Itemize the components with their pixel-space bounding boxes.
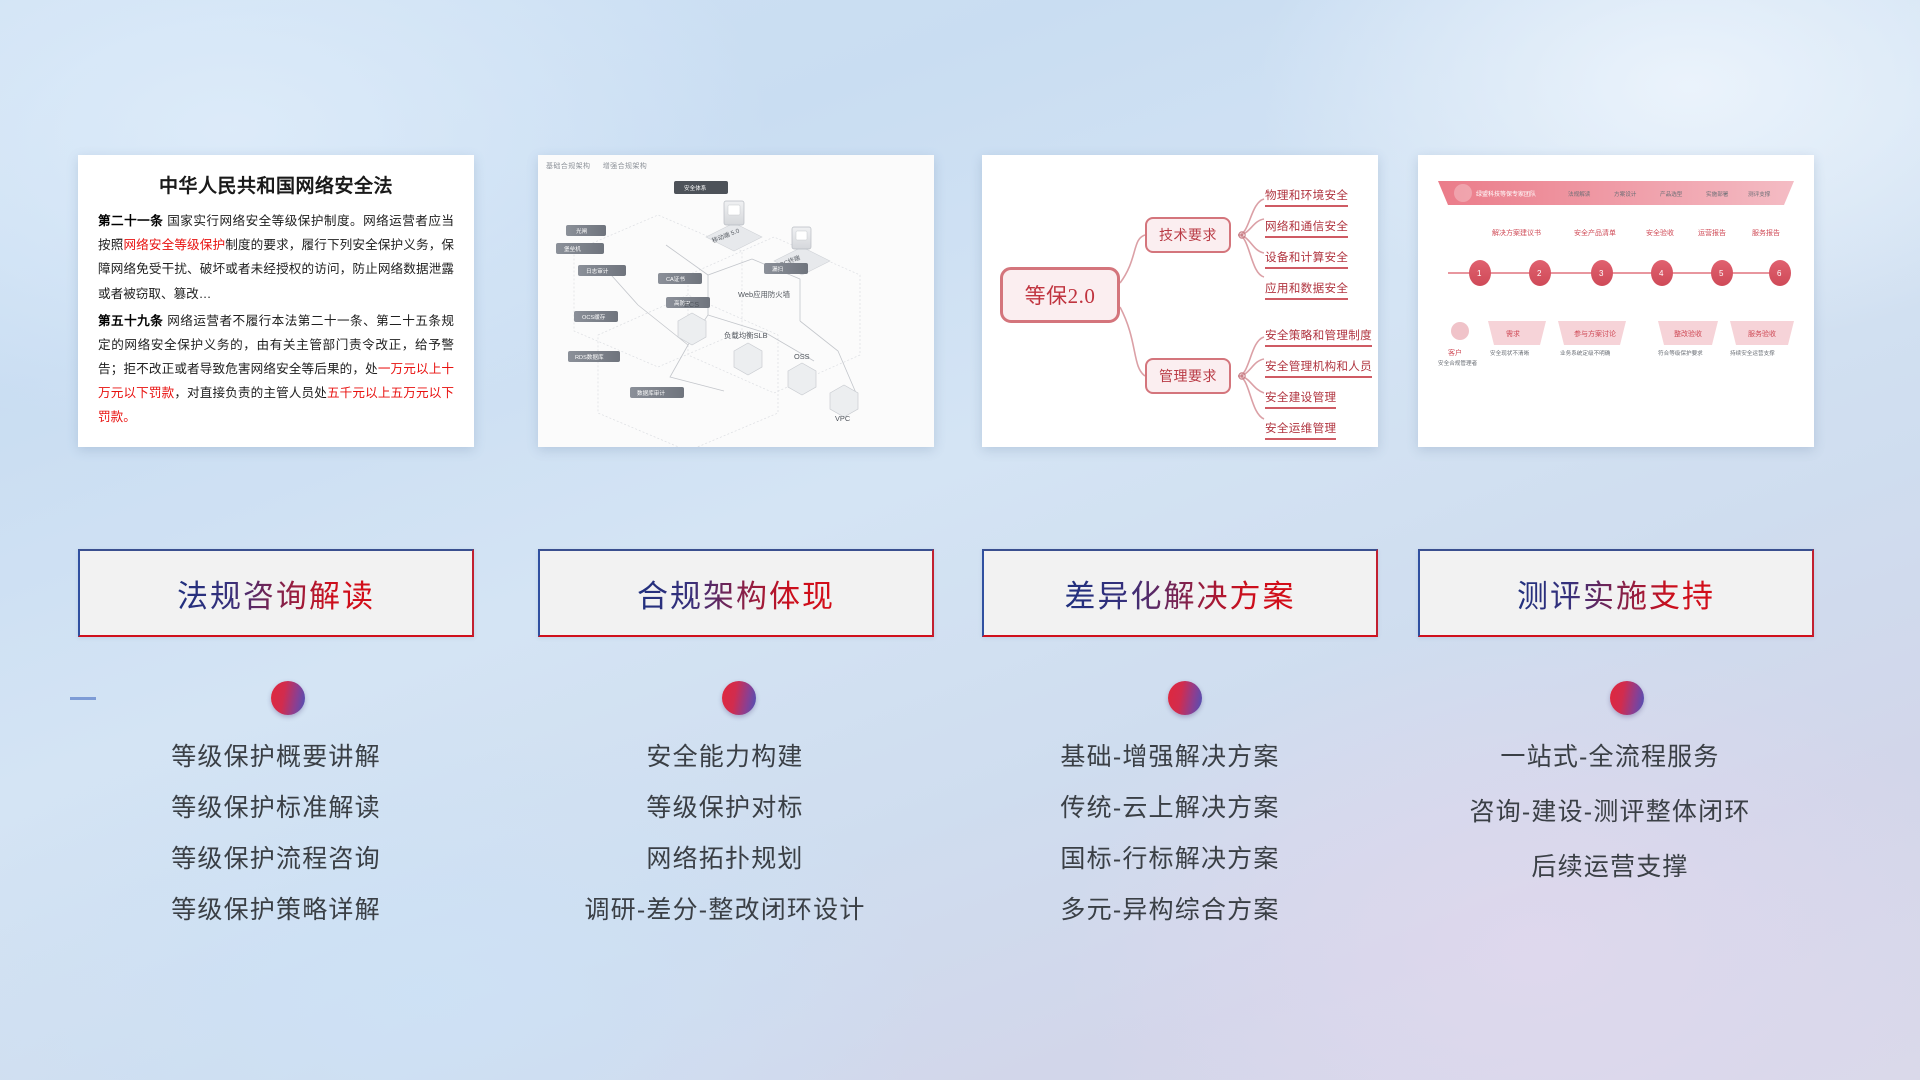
svg-text:安全验收: 安全验收	[1646, 228, 1674, 237]
detail-column-compliance-architecture: 安全能力构建 等级保护对标 网络拓扑规划 调研-差分-整改闭环设计	[495, 745, 955, 949]
svg-text:安全现状不清晰: 安全现状不清晰	[1490, 349, 1530, 357]
svg-text:安全专家: 安全专家	[1445, 231, 1469, 239]
svg-text:需求: 需求	[1506, 329, 1520, 338]
mindmap-leaf: 应用和数据安全	[1265, 280, 1348, 300]
timeline-dot-1[interactable]	[271, 681, 305, 715]
preview-card-mindmap[interactable]: 等保2.0 技术要求 管理要求 物理和环境安全 网络和通信安全 设备和计算安全 …	[982, 155, 1378, 447]
list-item: 等级保护标准解读	[46, 796, 506, 821]
list-item: 等级保护流程咨询	[46, 847, 506, 872]
svg-text:5: 5	[1719, 269, 1724, 278]
architecture-title-tag: 安全体系	[684, 184, 707, 192]
section-header-label: 测评实施支持	[1517, 571, 1715, 616]
mindmap-leaf: 物理和环境安全	[1265, 187, 1348, 207]
svg-text:ECS: ECS	[684, 300, 699, 309]
svg-text:解决方案建议书: 解决方案建议书	[1492, 228, 1541, 237]
list-item: 传统-云上解决方案	[940, 796, 1400, 821]
mindmap-leaf: 安全建设管理	[1265, 389, 1336, 409]
svg-text:安全合规管理者: 安全合规管理者	[1438, 359, 1478, 367]
list-item: 等级保护策略详解	[46, 898, 506, 923]
detail-column-differentiated-solution: 基础-增强解决方案 传统-云上解决方案 国标-行标解决方案 多元-异构综合方案	[940, 745, 1400, 949]
svg-text:方案设计: 方案设计	[1614, 190, 1637, 198]
svg-text:CA证书: CA证书	[666, 275, 685, 283]
svg-text:RDS数据库: RDS数据库	[575, 353, 604, 361]
detail-column-regulation-consulting: 等级保护概要讲解 等级保护标准解读 等级保护流程咨询 等级保护策略详解	[46, 745, 506, 949]
roadmap-svg: NSFOCUS 安全专家 绿盟科技等保专家团队 法规解读 方案设计 产品选型 实…	[1418, 155, 1814, 447]
article-21-highlight: 网络安全等级保护	[123, 238, 225, 252]
roadmap-diagram: NSFOCUS 安全专家 绿盟科技等保专家团队 法规解读 方案设计 产品选型 实…	[1418, 155, 1814, 447]
list-item: 后续运营支撑	[1380, 855, 1840, 880]
svg-text:符合等级保护要求: 符合等级保护要求	[1658, 349, 1703, 357]
svg-text:OSS: OSS	[794, 352, 810, 361]
svg-text:堡垒机: 堡垒机	[564, 245, 581, 253]
list-item: 调研-差分-整改闭环设计	[495, 898, 955, 923]
svg-text:日志审计: 日志审计	[586, 267, 609, 275]
svg-text:VPC: VPC	[835, 414, 851, 423]
preview-card-architecture[interactable]: 基础合规架构 增强合规架构	[538, 155, 934, 447]
list-item: 国标-行标解决方案	[940, 847, 1400, 872]
list-item: 一站式-全流程服务	[1380, 745, 1840, 770]
svg-text:OCS缓存: OCS缓存	[582, 313, 606, 321]
svg-text:服务验收: 服务验收	[1748, 329, 1776, 338]
mindmap-diagram: 等保2.0 技术要求 管理要求 物理和环境安全 网络和通信安全 设备和计算安全 …	[982, 155, 1378, 447]
law-article-21: 第二十一条 国家实行网络安全等级保护制度。网络运营者应当按照网络安全等级保护制度…	[98, 209, 454, 306]
mindmap-root-node: 等保2.0	[1000, 267, 1120, 323]
timeline	[70, 697, 1850, 700]
timeline-dot-2[interactable]	[722, 681, 756, 715]
mindmap-branch-technical: 技术要求	[1145, 217, 1231, 253]
svg-text:持续安全运营支撑: 持续安全运营支撑	[1730, 349, 1775, 357]
svg-text:2: 2	[1537, 269, 1542, 278]
list-item: 基础-增强解决方案	[940, 745, 1400, 770]
law-document: 中华人民共和国网络安全法 第二十一条 国家实行网络安全等级保护制度。网络运营者应…	[78, 155, 474, 438]
section-header-compliance-architecture[interactable]: 合规架构体现	[538, 549, 934, 637]
preview-card-roadmap[interactable]: NSFOCUS 安全专家 绿盟科技等保专家团队 法规解读 方案设计 产品选型 实…	[1418, 155, 1814, 447]
mindmap-branch-management: 管理要求	[1145, 358, 1231, 394]
svg-text:业务系统定级不明确: 业务系统定级不明确	[1560, 349, 1611, 357]
svg-text:绿盟科技等保专家团队: 绿盟科技等保专家团队	[1476, 190, 1536, 198]
mindmap-leaf: 安全策略和管理制度	[1265, 327, 1372, 347]
architecture-diagram: 基础合规架构 增强合规架构	[538, 155, 934, 447]
svg-text:服务报告: 服务报告	[1752, 228, 1780, 237]
preview-card-law[interactable]: 中华人民共和国网络安全法 第二十一条 国家实行网络安全等级保护制度。网络运营者应…	[78, 155, 474, 447]
svg-text:实施部署: 实施部署	[1706, 190, 1729, 198]
mindmap-leaf: 网络和通信安全	[1265, 218, 1348, 238]
section-header-evaluation-support[interactable]: 测评实施支持	[1418, 549, 1814, 637]
section-header-differentiated-solution[interactable]: 差异化解决方案	[982, 549, 1378, 637]
svg-text:数据库审计: 数据库审计	[637, 389, 665, 397]
svg-text:运营报告: 运营报告	[1698, 228, 1726, 237]
list-item: 咨询-建设-测评整体闭环	[1380, 800, 1840, 825]
law-title: 中华人民共和国网络安全法	[98, 171, 454, 198]
law-article-59: 第五十九条 网络运营者不履行本法第二十一条、第二十五条规定的网络安全保护义务的，…	[98, 309, 454, 430]
list-item: 多元-异构综合方案	[940, 898, 1400, 923]
list-item: 网络拓扑规划	[495, 847, 955, 872]
article-21-label: 第二十一条	[98, 214, 163, 228]
svg-text:参与方案讨论: 参与方案讨论	[1574, 329, 1616, 338]
svg-text:测评支撑: 测评支撑	[1748, 190, 1771, 198]
detail-list-row: 等级保护概要讲解 等级保护标准解读 等级保护流程咨询 等级保护策略详解 安全能力…	[0, 745, 1920, 945]
preview-card-row: 中华人民共和国网络安全法 第二十一条 国家实行网络安全等级保护制度。网络运营者应…	[0, 155, 1920, 450]
svg-text:3: 3	[1599, 269, 1604, 278]
article-59-label: 第五十九条	[98, 314, 163, 328]
timeline-dot-4[interactable]	[1610, 681, 1644, 715]
svg-text:安全产品清单: 安全产品清单	[1574, 228, 1616, 237]
svg-text:产品选型: 产品选型	[1660, 190, 1683, 198]
section-header-label: 差异化解决方案	[1065, 571, 1296, 616]
mindmap-leaf: 安全管理机构和人员	[1265, 358, 1372, 378]
mindmap-leaf: 安全运维管理	[1265, 420, 1336, 440]
svg-text:整改验收: 整改验收	[1674, 329, 1702, 338]
timeline-dot-3[interactable]	[1168, 681, 1202, 715]
svg-text:法规解读: 法规解读	[1568, 190, 1591, 198]
mindmap-leaf: 设备和计算安全	[1265, 249, 1348, 269]
detail-column-evaluation-support: 一站式-全流程服务 咨询-建设-测评整体闭环 后续运营支撑	[1380, 745, 1840, 910]
roadmap-brand: NSFOCUS	[1444, 219, 1488, 229]
article-59-text-b: ，对直接负责的主管人员处	[174, 386, 327, 400]
svg-text:漏扫: 漏扫	[772, 265, 784, 273]
section-header-label: 法规咨询解读	[177, 571, 375, 616]
svg-text:光闸: 光闸	[576, 227, 588, 235]
section-header-regulation-consulting[interactable]: 法规咨询解读	[78, 549, 474, 637]
timeline-dashed-line	[70, 697, 1850, 700]
svg-text:负载均衡SLB: 负载均衡SLB	[724, 331, 768, 340]
list-item: 等级保护对标	[495, 796, 955, 821]
section-header-label: 合规架构体现	[637, 571, 835, 616]
svg-text:1: 1	[1477, 269, 1482, 278]
svg-text:Web应用防火墙: Web应用防火墙	[738, 290, 791, 299]
list-item: 安全能力构建	[495, 745, 955, 770]
list-item: 等级保护概要讲解	[46, 745, 506, 770]
svg-text:6: 6	[1777, 269, 1782, 278]
svg-text:4: 4	[1659, 269, 1664, 278]
svg-text:客户: 客户	[1448, 348, 1462, 357]
architecture-svg: 移动端 5.0 PC终端 光闸 堡垒机 日志审计 OC	[538, 155, 934, 447]
section-header-row: 法规咨询解读 合规架构体现 差异化解决方案 测评实施支持	[0, 549, 1920, 639]
